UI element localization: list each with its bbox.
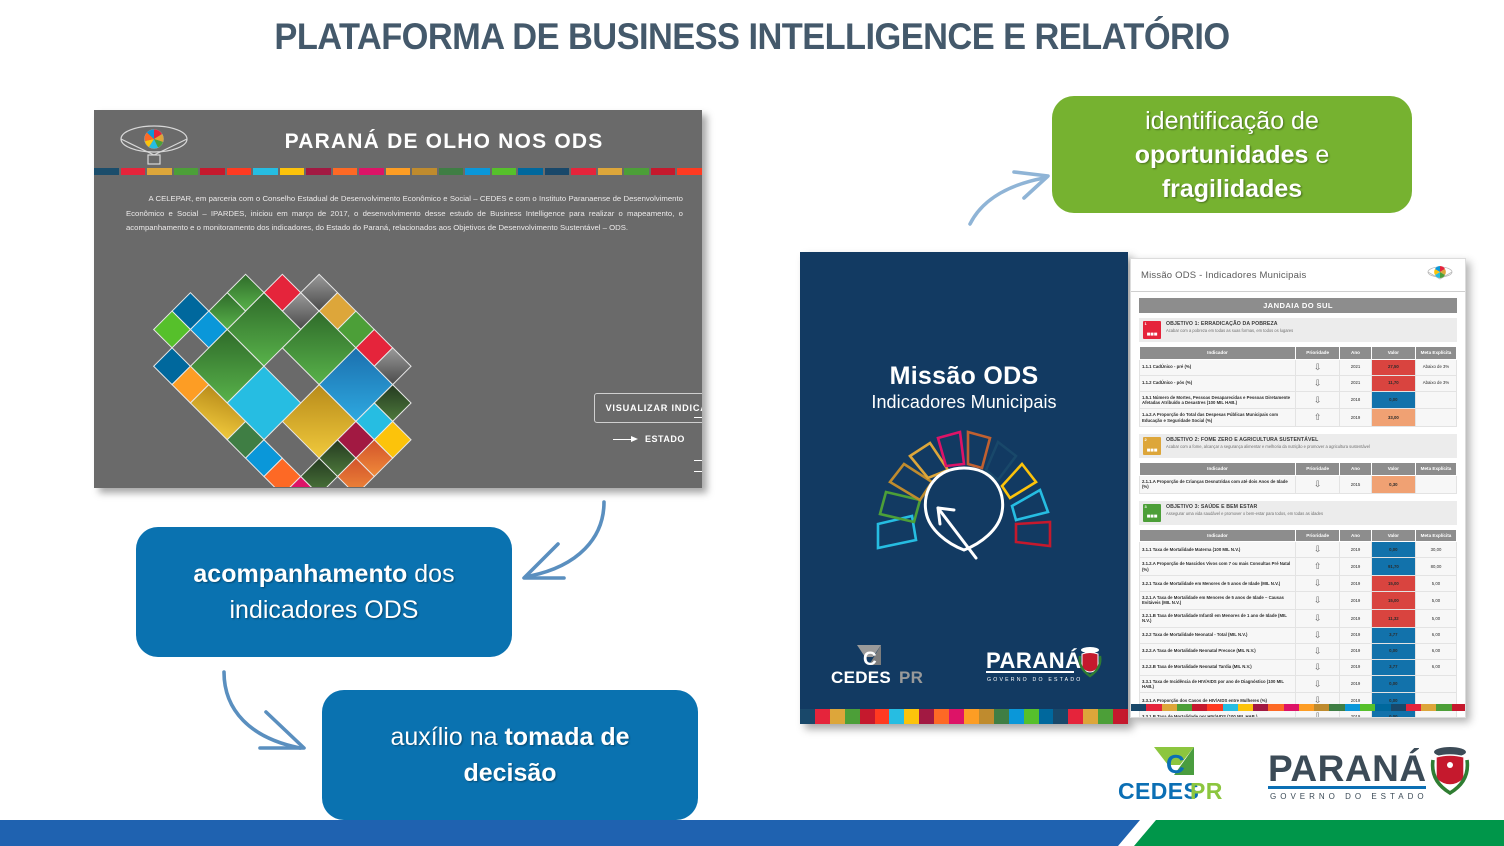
arrow-to-green-callout-icon <box>962 158 1072 228</box>
stripe-segment-17 <box>1391 704 1406 711</box>
callout-blue1-bold: acompanhamento <box>193 560 407 588</box>
cedespr-logo-cover-icon: C CEDES PR <box>825 643 935 687</box>
svg-text:PR: PR <box>1190 778 1223 804</box>
cell-valor: 33,00 <box>1371 409 1415 427</box>
svg-text:C: C <box>1166 749 1185 779</box>
nav-label-estado: ESTADO <box>645 434 685 444</box>
footer-bar-blue <box>0 820 1140 846</box>
callout-acompanhamento: acompanhamento dos indicadores ODS <box>136 527 512 657</box>
column-header-0: Indicador <box>1140 529 1296 542</box>
callout-blue2-line2: decisão <box>463 759 556 787</box>
cell-valor: 15,00 <box>1371 576 1415 592</box>
arrow-down-icon: ⇩ <box>1314 579 1322 588</box>
indicators-table: IndicadorPrioridadeAnoValorMeta Explícit… <box>1139 346 1457 427</box>
goal-name: OBJETIVO 3: SAÚDE E BEM ESTAR <box>1166 504 1323 510</box>
goal-badge-icon: 2■■■ <box>1143 437 1161 455</box>
cell-prioridade: ⇩ <box>1296 592 1340 610</box>
report-page-title: Missão ODS - Indicadores Municipais <box>1141 270 1306 281</box>
stripe-segment-16 <box>1039 709 1054 724</box>
visualizar-indicadores-button[interactable]: VISUALIZAR INDICADORES POR <box>594 393 702 423</box>
arrow-down-icon: ⇩ <box>1314 379 1322 388</box>
stripe-segment-16 <box>1375 704 1390 711</box>
column-header-2: Ano <box>1340 463 1372 476</box>
column-header-3: Valor <box>1371 529 1415 542</box>
cell-indicador: 3.2.2 Taxa de Mortalidade Neonatal - Tot… <box>1140 627 1296 643</box>
arrow-up-icon: ⇧ <box>1314 562 1322 571</box>
stripe-segment-7 <box>280 168 305 175</box>
cell-ano: 2019 <box>1340 675 1372 693</box>
cell-valor: 0,30 <box>1371 475 1415 493</box>
svg-text:CEDES: CEDES <box>831 668 891 687</box>
cell-ano: 2021 <box>1340 359 1372 375</box>
arrow-down-icon: ⇩ <box>1314 614 1322 623</box>
column-header-4: Meta Explícita <box>1415 463 1456 476</box>
cell-indicador: 3.2.2.A Taxa de Mortalidade Neonatal Pre… <box>1140 643 1296 659</box>
cell-meta-explicita <box>1415 409 1456 427</box>
column-header-1: Prioridade <box>1296 463 1340 476</box>
cell-valor: 27,50 <box>1371 359 1415 375</box>
callout-blue1-rest: dos <box>407 560 454 588</box>
goal-number: 2 <box>1145 437 1147 442</box>
cell-ano: 2019 <box>1340 542 1372 558</box>
stripe-segment-10 <box>359 168 384 175</box>
cell-ano: 2019 <box>1340 643 1372 659</box>
stripe-segment-0 <box>800 709 815 724</box>
svg-text:PARANÁ: PARANÁ <box>986 648 1081 673</box>
ods-eye-logo-icon <box>110 122 198 168</box>
stripe-segment-10 <box>1284 704 1299 711</box>
stripe-segment-12 <box>1314 704 1329 711</box>
cell-valor: 15,00 <box>1371 592 1415 610</box>
stripe-segment-13 <box>994 709 1009 724</box>
column-header-3: Valor <box>1371 463 1415 476</box>
arrow-right-icon <box>613 436 639 443</box>
stripe-segment-19 <box>1083 709 1098 724</box>
cell-ano: 2019 <box>1340 592 1372 610</box>
goal-header: 3■■■OBJETIVO 3: SAÚDE E BEM ESTARAssegur… <box>1139 501 1457 525</box>
goal-text: OBJETIVO 1: ERRADICAÇÃO DA POBREZAAcabar… <box>1166 321 1293 333</box>
stripe-segment-14 <box>1345 704 1360 711</box>
goal-description: Assegurar uma vida saudável e promover o… <box>1166 511 1323 516</box>
bi-portal-description: A CELEPAR, em parceria com o Conselho Es… <box>126 192 683 236</box>
stripe-segment-0 <box>94 168 119 175</box>
table-row[interactable]: 3.1.1 Taxa de Mortalidade Materna (100 M… <box>1140 542 1457 558</box>
stripe-segment-15 <box>1024 709 1039 724</box>
table-row[interactable]: 3.2.2.A Taxa de Mortalidade Neonatal Pre… <box>1140 643 1457 659</box>
arrow-up-icon: ⇧ <box>1314 413 1322 422</box>
cell-valor: 0,00 <box>1371 542 1415 558</box>
page-title: PLATAFORMA DE BUSINESS INTELLIGENCE E RE… <box>53 16 1452 58</box>
table-row[interactable]: 1.a.2.A Proporção do Total das Despesas … <box>1140 409 1457 427</box>
column-header-0: Indicador <box>1140 347 1296 360</box>
column-header-3: Valor <box>1371 347 1415 360</box>
cell-meta-explicita: 5,00 <box>1415 609 1456 627</box>
stripe-segment-14 <box>1009 709 1024 724</box>
stripe-segment-18 <box>1068 709 1083 724</box>
cell-meta-explicita <box>1415 675 1456 693</box>
table-row[interactable]: 3.2.1 Taxa de Mortalidade em Menores de … <box>1140 576 1457 592</box>
stripe-segment-16 <box>518 168 543 175</box>
stripe-segment-19 <box>1421 704 1436 711</box>
stripe-segment-6 <box>889 709 904 724</box>
cell-indicador: 1.a.2.A Proporção do Total das Despesas … <box>1140 409 1296 427</box>
stripe-segment-3 <box>174 168 199 175</box>
cell-indicador: 3.2.2.B Taxa de Mortalidade Neonatal Tar… <box>1140 659 1296 675</box>
report-page-ods-stripe <box>1131 704 1466 711</box>
stripe-segment-13 <box>1329 704 1344 711</box>
goal-number: 3 <box>1145 504 1147 509</box>
arrow-down-icon: ⇩ <box>1314 680 1322 689</box>
stripe-segment-22 <box>677 168 702 175</box>
cell-indicador: 3.2.1.A Taxa de Mortalidade em Menores d… <box>1140 592 1296 610</box>
bi-portal-header: PARANÁ DE OLHO NOS ODS <box>94 110 702 172</box>
stripe-segment-2 <box>147 168 172 175</box>
cell-indicador: 3.1.2.A Proporção de Nascidos Vivos com … <box>1140 558 1296 576</box>
stripe-segment-20 <box>624 168 649 175</box>
cell-meta-explicita: 5,00 <box>1415 576 1456 592</box>
stripe-segment-1 <box>121 168 146 175</box>
nav-item-estado-detalhado[interactable]: DETALHADO <box>694 455 702 465</box>
cell-ano: 2018 <box>1340 391 1372 409</box>
cell-meta-explicita: 6,00 <box>1415 659 1456 675</box>
cell-ano: 2019 <box>1340 627 1372 643</box>
cell-prioridade: ⇩ <box>1296 375 1340 391</box>
cell-ano: 2021 <box>1340 375 1372 391</box>
arrow-down-icon: ⇩ <box>1314 647 1322 656</box>
stripe-segment-2 <box>1162 704 1177 711</box>
goal-text: OBJETIVO 2: FOME ZERO E AGRICULTURA SUST… <box>1166 437 1370 449</box>
column-header-2: Ano <box>1340 347 1372 360</box>
report-page-header: Missão ODS - Indicadores Municipais <box>1131 259 1465 292</box>
stripe-segment-11 <box>1299 704 1314 711</box>
stripe-segment-15 <box>1360 704 1375 711</box>
goal-badge-icon: 3■■■ <box>1143 504 1161 522</box>
cell-indicador: 2.1.1.A Proporção de Crianças Desnutrida… <box>1140 475 1296 493</box>
goals-container: 1■■■OBJETIVO 1: ERRADICAÇÃO DA POBREZAAc… <box>1139 318 1457 718</box>
stripe-segment-21 <box>651 168 676 175</box>
stripe-segment-8 <box>1253 704 1268 711</box>
arrow-to-tomada-decisao-icon <box>214 658 319 763</box>
stripe-segment-17 <box>545 168 570 175</box>
cell-prioridade: ⇧ <box>1296 409 1340 427</box>
cell-indicador: 1.5.1 Número de Mortes, Pessoas Desapare… <box>1140 391 1296 409</box>
report-mockup: Missão ODS Indicadores Municipais <box>800 252 1466 724</box>
stripe-segment-19 <box>598 168 623 175</box>
arrow-down-icon: ⇩ <box>1314 545 1322 554</box>
ods-diamond-mosaic <box>152 262 482 487</box>
table-header-row: IndicadorPrioridadeAnoValorMeta Explícit… <box>1140 529 1457 542</box>
stripe-segment-0 <box>1131 704 1146 711</box>
report-page: Missão ODS - Indicadores Municipais JAND… <box>1130 258 1466 718</box>
table-row[interactable]: 3.2.2.B Taxa de Mortalidade Neonatal Tar… <box>1140 659 1457 675</box>
cell-indicador: 1.1.2 CadÚnico - pós (%) <box>1140 375 1296 391</box>
cell-valor: 3,77 <box>1371 627 1415 643</box>
column-header-4: Meta Explícita <box>1415 529 1456 542</box>
stripe-segment-7 <box>904 709 919 724</box>
stripe-segment-2 <box>830 709 845 724</box>
table-row[interactable]: 1.1.1 CadÚnico - pré (%)⇩202127,50Abaixo… <box>1140 359 1457 375</box>
stripe-segment-10 <box>949 709 964 724</box>
report-cover: Missão ODS Indicadores Municipais <box>800 252 1128 724</box>
stripe-segment-8 <box>306 168 331 175</box>
arrow-down-icon: ⇩ <box>1314 631 1322 640</box>
ods-color-stripe <box>94 168 702 175</box>
arrow-down-icon: ⇩ <box>1314 363 1322 372</box>
stripe-segment-6 <box>253 168 278 175</box>
arrow-to-acompanhamento-icon <box>508 494 613 589</box>
cell-prioridade: ⇩ <box>1296 659 1340 675</box>
stripe-segment-18 <box>571 168 596 175</box>
arrow-down-icon: ⇩ <box>1314 596 1322 605</box>
cell-valor: 0,00 <box>1371 391 1415 409</box>
table-row[interactable]: 3.2.1.A Taxa de Mortalidade em Menores d… <box>1140 592 1457 610</box>
cedespr-logo-footer-icon: C CEDES PR <box>1118 743 1250 805</box>
arrow-right-icon <box>694 468 702 475</box>
table-row[interactable]: 1.5.1 Número de Mortes, Pessoas Desapare… <box>1140 391 1457 409</box>
nav-item-estado[interactable]: ESTADO <box>613 434 685 444</box>
svg-text:GOVERNO DO ESTADO: GOVERNO DO ESTADO <box>987 677 1083 683</box>
svg-text:GOVERNO DO ESTADO: GOVERNO DO ESTADO <box>1270 792 1428 801</box>
table-header-row: IndicadorPrioridadeAnoValorMeta Explícit… <box>1140 347 1457 360</box>
stripe-segment-6 <box>1223 704 1238 711</box>
bi-portal-title: PARANÁ DE OLHO NOS ODS <box>204 130 684 154</box>
stripe-segment-9 <box>1268 704 1283 711</box>
callout-green-bold1: oportunidades <box>1135 141 1309 169</box>
arrow-right-icon <box>694 414 702 421</box>
cover-title: Missão ODS <box>800 362 1128 391</box>
cell-prioridade: ⇩ <box>1296 475 1340 493</box>
cell-valor: 3,77 <box>1371 659 1415 675</box>
ods-gauge-icon <box>864 416 1064 561</box>
table-row[interactable]: 2.1.1.A Proporção de Crianças Desnutrida… <box>1140 475 1457 493</box>
cell-indicador: 1.1.1 CadÚnico - pré (%) <box>1140 359 1296 375</box>
goal-glyph-icon: ■■■ <box>1143 332 1161 338</box>
goal-header: 2■■■OBJETIVO 2: FOME ZERO E AGRICULTURA … <box>1139 434 1457 458</box>
svg-text:CEDES: CEDES <box>1118 778 1199 804</box>
svg-text:PR: PR <box>899 668 923 687</box>
stripe-segment-12 <box>412 168 437 175</box>
stripe-segment-5 <box>875 709 890 724</box>
stripe-segment-18 <box>1406 704 1421 711</box>
ods-eye-logo-small-icon <box>1425 264 1455 286</box>
stripe-segment-14 <box>465 168 490 175</box>
city-name-bar: JANDAIA DO SUL <box>1139 298 1457 313</box>
cell-prioridade: ⇩ <box>1296 542 1340 558</box>
arrow-down-icon: ⇩ <box>1314 396 1322 405</box>
column-header-2: Ano <box>1340 529 1372 542</box>
cell-indicador: 3.2.1 Taxa de Mortalidade em Menores de … <box>1140 576 1296 592</box>
stripe-segment-12 <box>979 709 994 724</box>
cell-meta-explicita: 80,00 <box>1415 558 1456 576</box>
stripe-segment-4 <box>860 709 875 724</box>
stripe-segment-9 <box>333 168 358 175</box>
stripe-segment-11 <box>964 709 979 724</box>
cell-meta-explicita: Abaixo de 3% <box>1415 375 1456 391</box>
goal-glyph-icon: ■■■ <box>1143 514 1161 520</box>
callout-green-mid: e <box>1308 141 1329 169</box>
goal-glyph-icon: ■■■ <box>1143 448 1161 454</box>
callout-oportunidades: identificação de oportunidades e fragili… <box>1052 96 1412 213</box>
indicators-table: IndicadorPrioridadeAnoValorMeta Explícit… <box>1139 529 1457 718</box>
cover-ods-stripe <box>800 709 1128 724</box>
stripe-segment-21 <box>1452 704 1466 711</box>
stripe-segment-20 <box>1436 704 1451 711</box>
callout-blue2-bold: tomada de <box>504 723 629 751</box>
stripe-segment-3 <box>845 709 860 724</box>
cell-ano: 2019 <box>1340 609 1372 627</box>
cell-valor: 11,32 <box>1371 609 1415 627</box>
callout-tomada-decisao: auxílio na tomada de decisão <box>322 690 698 820</box>
arrow-right-icon <box>694 457 702 464</box>
cell-ano: 2019 <box>1340 558 1372 576</box>
cell-prioridade: ⇩ <box>1296 359 1340 375</box>
stripe-segment-4 <box>200 168 225 175</box>
bi-portal-description-text: A CELEPAR, em parceria com o Conselho Es… <box>126 194 683 232</box>
cell-valor: 0,00 <box>1371 643 1415 659</box>
cell-prioridade: ⇩ <box>1296 675 1340 693</box>
arrow-down-icon: ⇩ <box>1314 663 1322 672</box>
goal-description: Acabar com a pobreza em todas as suas fo… <box>1166 328 1293 333</box>
bi-portal-screenshot: PARANÁ DE OLHO NOS ODS A CELEPAR, em par… <box>94 110 702 488</box>
cell-valor: 11,70 <box>1371 375 1415 391</box>
cell-indicador: 3.3.1 Taxa de Incidência de HIV/AIDS por… <box>1140 675 1296 693</box>
cell-ano: 2019 <box>1340 576 1372 592</box>
goal-text: OBJETIVO 3: SAÚDE E BEM ESTARAssegurar u… <box>1166 504 1323 516</box>
cell-ano: 2019 <box>1340 659 1372 675</box>
cell-valor: 0,00 <box>1371 675 1415 693</box>
cell-prioridade: ⇩ <box>1296 576 1340 592</box>
cell-ano: 2019 <box>1340 409 1372 427</box>
cell-indicador: 3.2.1.B Taxa de Mortalidade Infantil em … <box>1140 609 1296 627</box>
cell-indicador: 3.1.1 Taxa de Mortalidade Materna (100 M… <box>1140 542 1296 558</box>
cell-meta-explicita <box>1415 391 1456 409</box>
stripe-segment-13 <box>439 168 464 175</box>
cell-meta-explicita: Abaixo de 3% <box>1415 359 1456 375</box>
stripe-segment-8 <box>919 709 934 724</box>
arrow-down-icon: ⇩ <box>1314 712 1322 718</box>
footer-logos: C CEDES PR PARANÁ GOVERNO DO ESTADO <box>1118 736 1490 812</box>
cell-meta-explicita: 6,00 <box>1415 643 1456 659</box>
cell-prioridade: ⇩ <box>1296 391 1340 409</box>
report-page-body: JANDAIA DO SUL 1■■■OBJETIVO 1: ERRADICAÇ… <box>1131 292 1465 718</box>
table-row[interactable]: 3.2.1.B Taxa de Mortalidade Infantil em … <box>1140 609 1457 627</box>
cell-meta-explicita: 5,00 <box>1415 592 1456 610</box>
stripe-segment-21 <box>1113 709 1128 724</box>
callout-green-line1: identificação de <box>1145 107 1319 135</box>
cover-subtitle: Indicadores Municipais <box>800 392 1128 413</box>
callout-blue2-pre: auxílio na <box>391 723 505 751</box>
stripe-segment-11 <box>386 168 411 175</box>
stripe-segment-17 <box>1053 709 1068 724</box>
svg-text:PARANÁ: PARANÁ <box>1268 748 1427 789</box>
cell-meta-explicita: 6,00 <box>1415 627 1456 643</box>
stripe-segment-7 <box>1238 704 1253 711</box>
goal-name: OBJETIVO 1: ERRADICAÇÃO DA POBREZA <box>1166 321 1293 327</box>
cell-prioridade: ⇩ <box>1296 627 1340 643</box>
cell-meta-explicita <box>1415 475 1456 493</box>
column-header-1: Prioridade <box>1296 529 1340 542</box>
svg-text:C: C <box>863 649 877 670</box>
parana-logo-footer-icon: PARANÁ GOVERNO DO ESTADO <box>1266 743 1480 805</box>
nav-item-estado-briefing[interactable]: BRIEFING <box>694 412 702 422</box>
table-row[interactable]: 3.2.2 Taxa de Mortalidade Neonatal - Tot… <box>1140 627 1457 643</box>
stripe-segment-20 <box>1098 709 1113 724</box>
stripe-segment-3 <box>1177 704 1192 711</box>
table-row[interactable]: 3.1.2.A Proporção de Nascidos Vivos com … <box>1140 558 1457 576</box>
goal-badge-icon: 1■■■ <box>1143 321 1161 339</box>
cell-ano: 2015 <box>1340 475 1372 493</box>
nav-item-municipio-briefing[interactable]: BRIEFING <box>694 466 702 476</box>
stripe-segment-5 <box>227 168 252 175</box>
goal-name: OBJETIVO 2: FOME ZERO E AGRICULTURA SUST… <box>1166 437 1370 443</box>
callout-green-bold2: fragilidades <box>1162 175 1302 203</box>
stripe-segment-1 <box>1146 704 1161 711</box>
column-header-0: Indicador <box>1140 463 1296 476</box>
parana-logo-cover-icon: PARANÁ GOVERNO DO ESTADO <box>984 644 1104 686</box>
cover-logos: C CEDES PR PARANÁ GOVERNO DO ESTADO <box>800 642 1128 687</box>
goal-header: 1■■■OBJETIVO 1: ERRADICAÇÃO DA POBREZAAc… <box>1139 318 1457 342</box>
stripe-segment-15 <box>492 168 517 175</box>
cell-prioridade: ⇩ <box>1296 609 1340 627</box>
stripe-segment-4 <box>1192 704 1207 711</box>
cell-meta-explicita: 30,00 <box>1415 542 1456 558</box>
arrow-down-icon: ⇩ <box>1314 480 1322 489</box>
cell-prioridade: ⇧ <box>1296 558 1340 576</box>
callout-blue1-line2: indicadores ODS <box>230 596 419 624</box>
stripe-segment-5 <box>1207 704 1222 711</box>
table-header-row: IndicadorPrioridadeAnoValorMeta Explícit… <box>1140 463 1457 476</box>
goal-number: 1 <box>1145 321 1147 326</box>
goal-description: Acabar com a fome, alcançar a segurança … <box>1166 444 1370 449</box>
indicators-table: IndicadorPrioridadeAnoValorMeta Explícit… <box>1139 462 1457 493</box>
table-row[interactable]: 3.3.1 Taxa de Incidência de HIV/AIDS por… <box>1140 675 1457 693</box>
cell-valor: 91,70 <box>1371 558 1415 576</box>
column-header-4: Meta Explícita <box>1415 347 1456 360</box>
table-row[interactable]: 1.1.2 CadÚnico - pós (%)⇩202111,70Abaixo… <box>1140 375 1457 391</box>
stripe-segment-1 <box>815 709 830 724</box>
stripe-segment-9 <box>934 709 949 724</box>
cell-prioridade: ⇩ <box>1296 643 1340 659</box>
column-header-1: Prioridade <box>1296 347 1340 360</box>
footer-bar-green <box>1134 820 1504 846</box>
